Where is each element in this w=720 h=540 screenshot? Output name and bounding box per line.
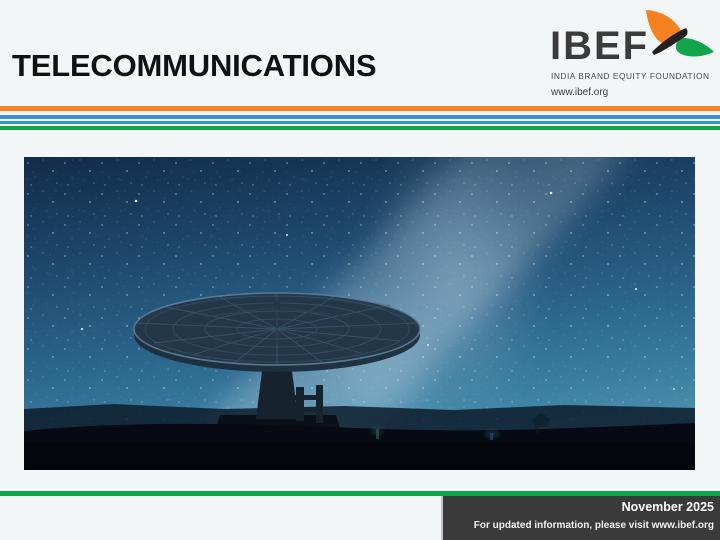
ibef-logo: IBEF INDIA BRAND EQUITY FOUNDATION www.i…: [540, 8, 718, 100]
presentation-slide: TELECOMMUNICATIONS IBEF INDIA BRAND EQUI…: [0, 0, 720, 540]
divider-bar-blue-upper: [0, 115, 720, 119]
divider-bar-orange: [0, 106, 720, 111]
divider-bar-green: [0, 126, 720, 130]
footer-date: November 2025: [443, 499, 714, 515]
divider-bar-blue-lower: [0, 121, 720, 124]
footer-note: For updated information, please visit ww…: [443, 518, 714, 533]
tricolour-divider: [0, 106, 720, 130]
logo-tagline: INDIA BRAND EQUITY FOUNDATION: [551, 71, 710, 81]
hero-image: [24, 157, 695, 470]
logo-wordmark: IBEF: [550, 26, 649, 66]
ibef-bird-icon: [642, 8, 718, 64]
logo-url: www.ibef.org: [551, 87, 608, 98]
footer-plate: November 2025 For updated information, p…: [441, 496, 720, 540]
page-title: TELECOMMUNICATIONS: [12, 48, 376, 84]
